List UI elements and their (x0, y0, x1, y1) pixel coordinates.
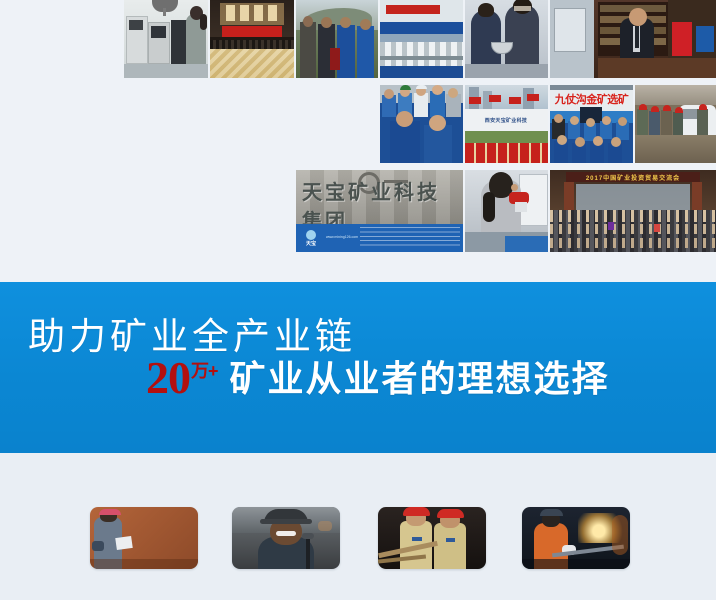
collage-photo-r2c3[interactable]: 九仗沟金矿选矿 (550, 85, 633, 163)
collage-photo-r1c6[interactable] (550, 0, 716, 78)
collage-photo-r1c1[interactable] (124, 0, 208, 78)
gallery-card-g1[interactable] (90, 507, 198, 569)
banner-number-suffix: 万+ (191, 357, 218, 383)
banner-tail-text: 矿业从业者的理想选择 (230, 361, 610, 397)
gallery-card-g3[interactable] (378, 507, 486, 569)
collage-photo-r3c1[interactable]: 天宝矿业科技集团 天宝 www.mining126.com (296, 170, 463, 252)
banner-line-2: 20 万+ 矿业从业者的理想选择 (146, 356, 610, 400)
gallery-card-g2[interactable] (232, 507, 340, 569)
collage-photo-r1c4[interactable] (380, 0, 463, 78)
collage-photo-r1c3[interactable] (296, 0, 378, 78)
worker-gallery (0, 453, 716, 600)
collage-photo-r2c1[interactable] (380, 85, 463, 163)
collage-photo-r3c1-sign-text: 天宝矿业科技集团 (302, 192, 457, 218)
banner-number: 20 (146, 356, 190, 400)
collage-photo-r1c5[interactable] (465, 0, 548, 78)
collage-photo-r2c2[interactable]: 西安天宝矿业科技 (465, 85, 548, 163)
collage-photo-r3c1-logo: 天宝 (299, 227, 323, 249)
collage-photo-r2c4[interactable] (635, 85, 716, 163)
gallery-card-g4[interactable] (522, 507, 630, 569)
collage-photo-r2c2-banner-text: 西安天宝矿业科技 (475, 113, 537, 127)
company-photo-collage: 西安天宝矿业科技 九仗沟金矿选矿 (0, 0, 716, 282)
banner-line-1: 助力矿业全产业链 (28, 306, 356, 360)
collage-photo-r1c2[interactable] (210, 0, 294, 78)
collage-photo-r3c2[interactable] (465, 170, 548, 252)
page-root: 西安天宝矿业科技 九仗沟金矿选矿 (0, 0, 716, 600)
promo-banner: 助力矿业全产业链 20 万+ 矿业从业者的理想选择 (0, 282, 716, 453)
collage-photo-r2c3-sign-text: 九仗沟金矿选矿 (553, 91, 630, 107)
collage-photo-r3c3[interactable]: 2017中国矿业投资贸易交流会 (550, 170, 716, 252)
collage-photo-r3c3-banner-text: 2017中国矿业投资贸易交流会 (568, 172, 698, 182)
